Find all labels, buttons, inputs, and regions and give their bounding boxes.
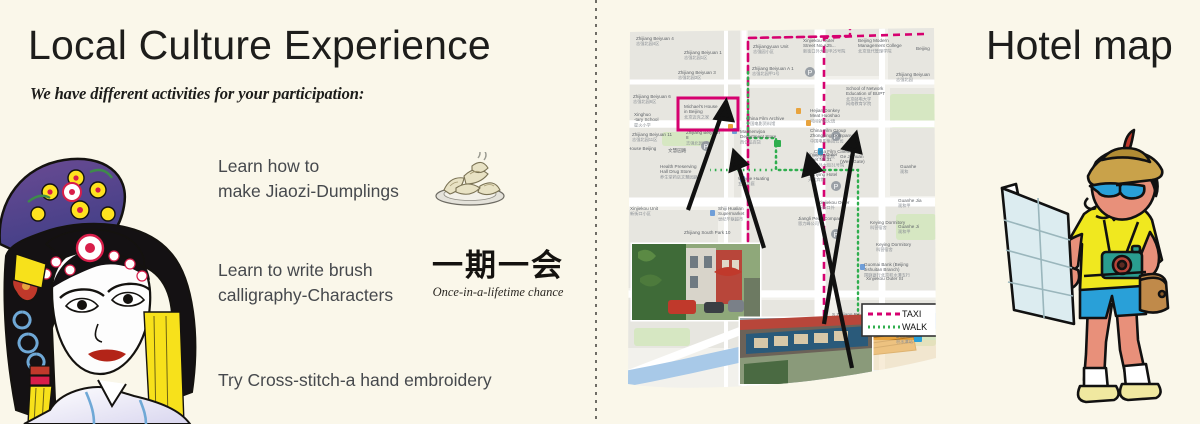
svg-text:Zhijiang South Park 10: Zhijiang South Park 10: [684, 230, 731, 235]
svg-text:志强北园6区: 志强北园6区: [633, 98, 656, 105]
svg-text:科营宿舍: 科营宿舍: [870, 224, 888, 231]
svg-text:观和甲: 观和甲: [898, 202, 911, 209]
map-label: Xinjiekou Outer St: [866, 276, 904, 281]
map-label: Beijing: [916, 46, 930, 51]
svg-text:志强北园11区: 志强北园11区: [632, 136, 657, 143]
svg-text:志强北园1区: 志强北园1区: [684, 54, 707, 61]
svg-text:中国电影集团公司: 中国电影集团公司: [810, 137, 844, 144]
svg-text:养生堂药店文慧园路: 养生堂药店文慧园路: [660, 173, 699, 180]
svg-text:北京现代管理学院: 北京现代管理学院: [858, 47, 892, 54]
activity-item-1: Learn how to make Jiaozi-Dumplings: [218, 154, 399, 204]
hotel-map-title: Hotel map: [986, 22, 1173, 69]
map-label: Shiji HualianSupermarket世纪华联超市: [718, 206, 745, 222]
map-legend: TAXI WALK: [862, 304, 936, 336]
svg-text:恩力峰公司: 恩力峰公司: [798, 220, 819, 227]
hotel-map-panel: Hotel map: [936, 0, 1200, 424]
calligraphy-illustration: 一期一会 Once-in-a-lifetime chance: [428, 250, 568, 300]
building-photo-inset-2: [740, 314, 872, 384]
svg-text:TAXI: TAXI: [902, 309, 921, 319]
activity-item-2: Learn to write brush calligraphy-Charact…: [218, 258, 393, 308]
svg-text:P: P: [834, 184, 839, 191]
peking-opera-lady-illustration: [0, 148, 206, 424]
svg-text:志强北园4区: 志强北园4区: [636, 40, 659, 47]
poster-page: Local Culture Experience We have differe…: [0, 0, 1200, 424]
svg-text:科营宿舍: 科营宿舍: [876, 246, 894, 253]
dumplings-plate-illustration: [428, 152, 512, 208]
svg-text:北京迈克之家: 北京迈克之家: [684, 113, 710, 120]
map-label: 文慧园路: [668, 147, 687, 154]
svg-text:新街口外大街甲25号院: 新街口外大街甲25号院: [803, 47, 846, 54]
map-label: House Beijing: [628, 146, 657, 151]
svg-text:文慧园路: 文慧园路: [668, 147, 687, 154]
activity-item-3: Try Cross-stitch-a hand embroidery: [218, 368, 492, 393]
svg-text:House Beijing: House Beijing: [628, 146, 657, 151]
svg-text:观和甲: 观和甲: [898, 228, 911, 235]
svg-text:Beijing: Beijing: [916, 46, 930, 51]
map-label: Zhijiang South Park 10: [684, 230, 731, 235]
local-culture-panel: Local Culture Experience We have differe…: [0, 0, 596, 424]
svg-text:西仁品百货: 西仁品百货: [740, 138, 761, 145]
svg-text:志强园小区: 志强园小区: [753, 48, 774, 55]
svg-text:志强北园: 志强北园: [896, 76, 913, 83]
calligraphy-characters: 一期一会: [428, 250, 568, 283]
svg-text:积水潭站: 积水潭站: [896, 338, 913, 345]
svg-text:星火小学: 星火小学: [634, 121, 651, 128]
svg-text:Xinjiekou Outer St: Xinjiekou Outer St: [866, 276, 904, 281]
hotel-location-map[interactable]: PP PPP: [628, 28, 936, 390]
map-canvas[interactable]: PP PPP: [628, 28, 936, 390]
street-photo-inset-1: [632, 244, 760, 320]
svg-text:志强北园8号: 志强北园8号: [686, 139, 709, 146]
svg-text:新街口小区: 新街口小区: [630, 210, 651, 217]
svg-text:世纪华联超市: 世纪华联超市: [718, 215, 743, 222]
svg-text:河间驴肉火烧: 河间驴肉火烧: [810, 117, 836, 124]
page-title: Local Culture Experience: [28, 22, 491, 69]
calligraphy-translation: Once-in-a-lifetime chance: [428, 285, 568, 300]
svg-text:志强北园甲1号: 志强北园甲1号: [752, 70, 779, 77]
svg-text:志强北园3区: 志强北园3区: [678, 74, 701, 81]
page-subtitle: We have different activities for your pa…: [30, 84, 364, 104]
svg-text:WALK: WALK: [902, 322, 927, 332]
svg-text:中国电影资料馆: 中国电影资料馆: [746, 120, 775, 127]
svg-text:网络教育学院: 网络教育学院: [846, 100, 872, 107]
panel-divider: [595, 0, 597, 424]
svg-text:P: P: [808, 70, 813, 77]
svg-text:观和: 观和: [900, 168, 908, 175]
tourist-with-map-illustration: [992, 128, 1184, 424]
